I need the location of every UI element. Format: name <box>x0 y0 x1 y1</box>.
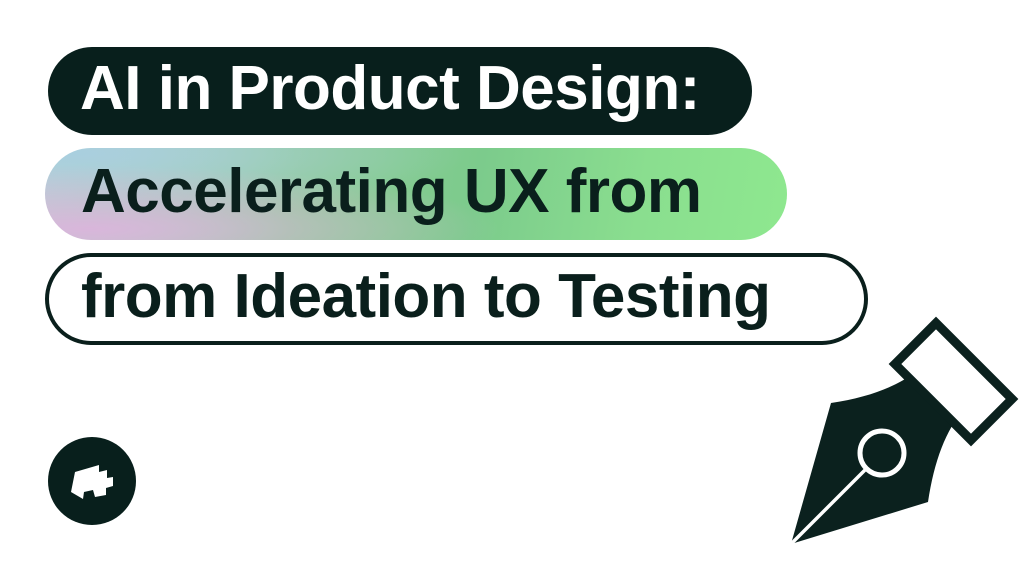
brand-logo-badge[interactable] <box>48 437 136 525</box>
headline-pill-2: Accelerating UX from <box>45 148 787 240</box>
headline-line-3-text: from Ideation to Testing <box>81 266 771 328</box>
headline-pill-1: AI in Product Design: <box>48 47 752 135</box>
poster-canvas: AI in Product Design: Accelerating UX fr… <box>0 0 1024 576</box>
headline-pill-3: from Ideation to Testing <box>45 253 868 345</box>
pen-nib-icon <box>764 310 1024 576</box>
headline-line-1-text: AI in Product Design: <box>80 58 700 120</box>
headline-line-2-text: Accelerating UX from <box>81 161 702 223</box>
angular-flag-mark-icon <box>66 459 118 503</box>
pen-nib-illustration <box>764 310 1024 576</box>
